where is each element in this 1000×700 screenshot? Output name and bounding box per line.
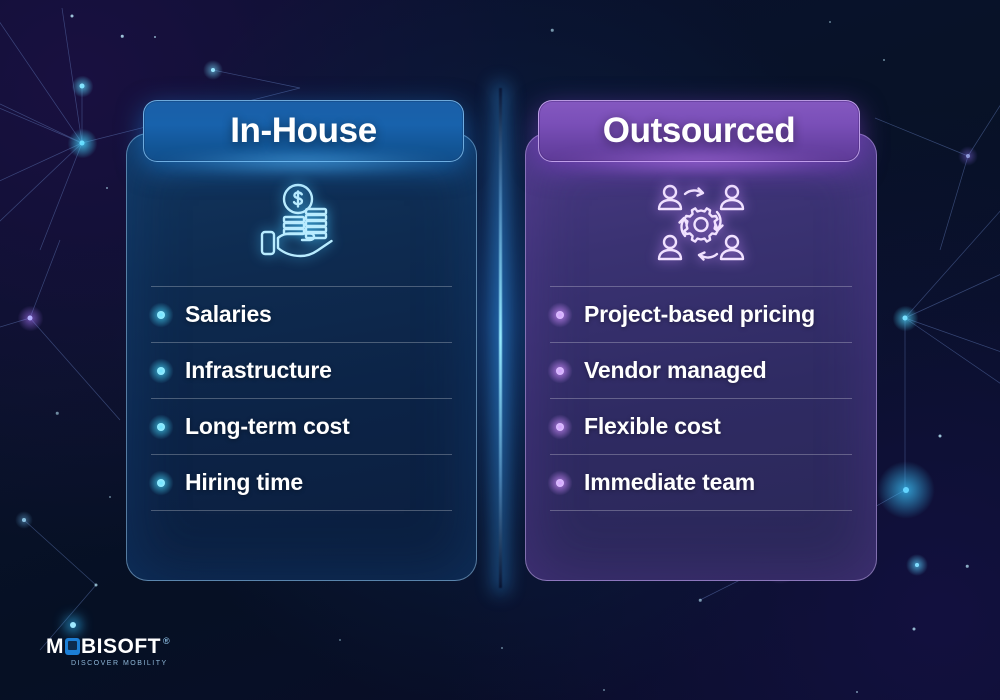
bullet-icon: [556, 311, 564, 319]
bullet-icon: [157, 479, 165, 487]
star-node: [939, 435, 942, 438]
star-node: [829, 21, 831, 23]
list-item: Infrastructure: [151, 342, 452, 398]
star-node: [913, 628, 916, 631]
header-in-house: In-House: [143, 100, 464, 162]
star-node: [551, 29, 554, 32]
header-outsourced: Outsourced: [538, 100, 860, 162]
star-node: [95, 584, 98, 587]
list-item-label: Flexible cost: [584, 413, 721, 440]
brand-logo: M BISOFT ® DISCOVER MOBILITY: [46, 636, 170, 667]
star-node: [339, 639, 341, 641]
logo-wordmark: M BISOFT: [46, 636, 161, 657]
page-title-outsourced: Outsourced: [603, 111, 795, 151]
star-node: [856, 691, 858, 693]
bullet-icon: [157, 423, 165, 431]
list-item-label: Hiring time: [185, 469, 303, 496]
list-item-label: Project-based pricing: [584, 301, 815, 328]
list-item: Salaries: [151, 286, 452, 342]
logo-spark-icon: [70, 622, 76, 628]
money-in-hand-icon: [127, 182, 476, 264]
logo-device-icon: [65, 638, 80, 655]
infographic-canvas: Salaries Infrastructure Long-term cost H…: [0, 0, 1000, 700]
list-item: Project-based pricing: [550, 286, 852, 342]
bullet-icon: [556, 367, 564, 375]
list-item: Long-term cost: [151, 398, 452, 454]
star-node: [966, 154, 970, 158]
vertical-divider: [499, 88, 502, 588]
bullet-icon: [556, 479, 564, 487]
bullet-icon: [556, 423, 564, 431]
list-item: Vendor managed: [550, 342, 852, 398]
star-node: [154, 36, 156, 38]
logo-letter-m: M: [46, 636, 64, 657]
page-title-in-house: In-House: [230, 111, 377, 151]
star-node: [903, 487, 909, 493]
star-node: [883, 59, 885, 61]
star-node: [106, 187, 108, 189]
card-outsourced: Project-based pricing Vendor managed Fle…: [525, 133, 877, 581]
star-node: [80, 84, 85, 89]
logo-text-rest: BISOFT: [81, 636, 161, 657]
star-node: [56, 412, 59, 415]
star-node: [109, 496, 111, 498]
list-item-label: Immediate team: [584, 469, 755, 496]
bullet-icon: [157, 311, 165, 319]
star-node: [699, 599, 702, 602]
bullet-icon: [157, 367, 165, 375]
star-node: [121, 35, 124, 38]
star-node: [915, 563, 919, 567]
logo-tagline: DISCOVER MOBILITY: [71, 660, 168, 667]
star-node: [211, 68, 215, 72]
list-item-label: Infrastructure: [185, 357, 332, 384]
card-in-house: Salaries Infrastructure Long-term cost H…: [126, 133, 477, 581]
feature-list-in-house: Salaries Infrastructure Long-term cost H…: [151, 286, 452, 511]
star-node: [28, 316, 33, 321]
feature-list-outsourced: Project-based pricing Vendor managed Fle…: [550, 286, 852, 511]
header-glow: [539, 157, 859, 173]
list-item: Immediate team: [550, 454, 852, 511]
list-item-label: Vendor managed: [584, 357, 767, 384]
star-node: [22, 518, 26, 522]
star-node: [80, 141, 85, 146]
star-node: [903, 316, 908, 321]
header-glow: [144, 157, 463, 173]
star-node: [501, 647, 503, 649]
star-node: [966, 565, 969, 568]
list-item: Flexible cost: [550, 398, 852, 454]
star-node: [603, 689, 605, 691]
registered-mark: ®: [163, 636, 170, 646]
list-item-label: Salaries: [185, 301, 272, 328]
team-collaboration-gear-icon: [526, 182, 876, 268]
list-item-label: Long-term cost: [185, 413, 350, 440]
list-item: Hiring time: [151, 454, 452, 511]
star-node: [71, 15, 74, 18]
